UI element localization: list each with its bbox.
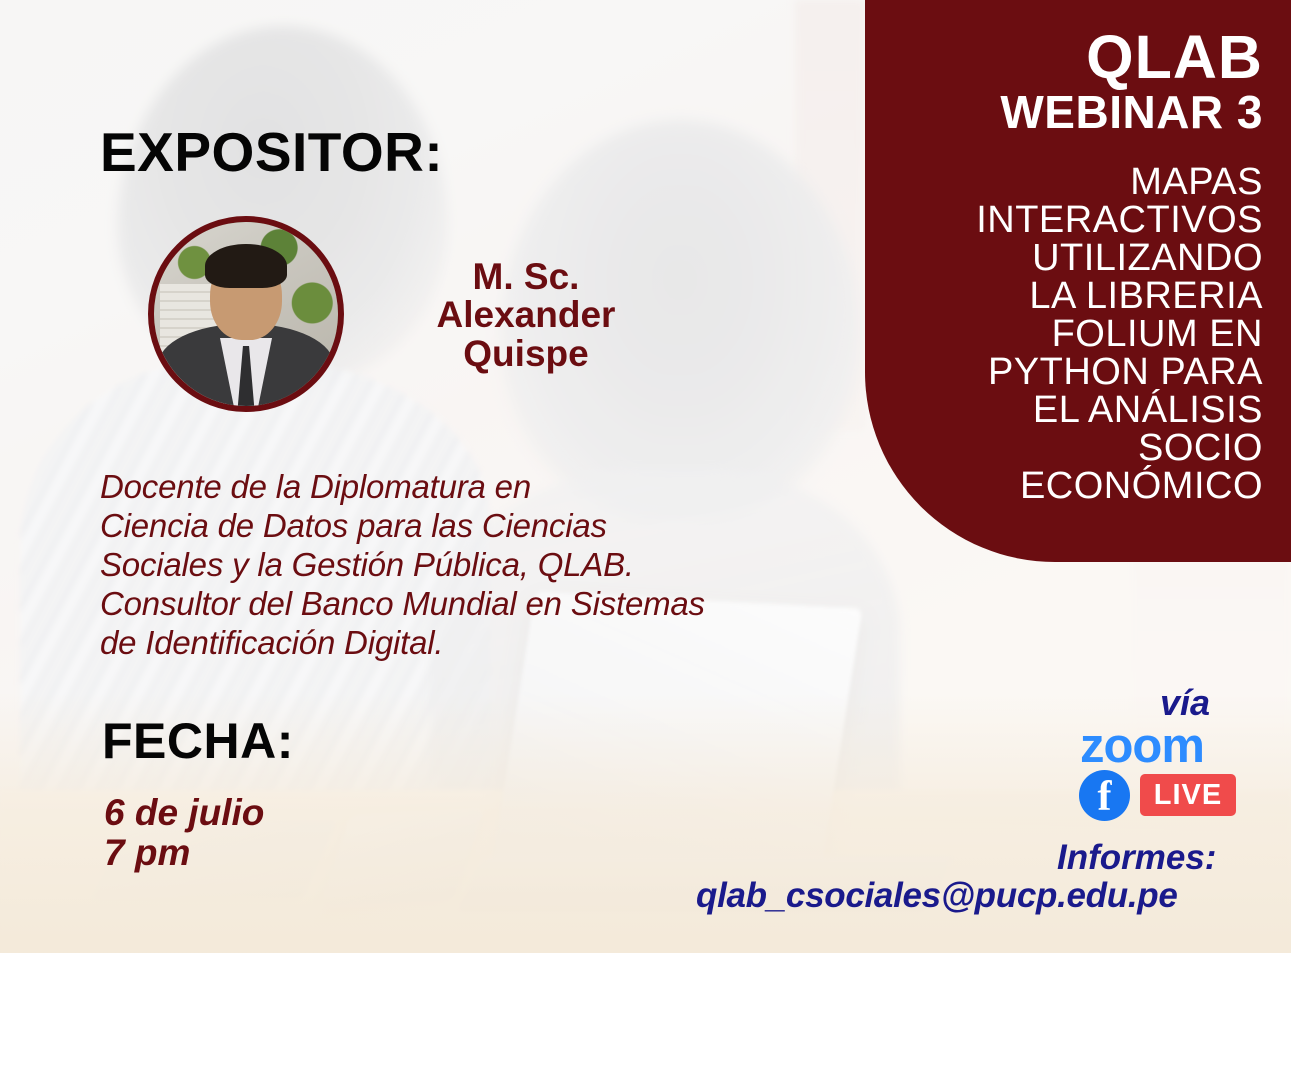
- contact-email[interactable]: qlab_csociales@pucp.edu.pe: [696, 876, 1177, 916]
- live-badge: LIVE: [1140, 774, 1236, 816]
- live-badge-label: LIVE: [1140, 779, 1236, 812]
- speaker-avatar: [148, 216, 344, 412]
- date-label: FECHA:: [102, 712, 294, 770]
- webinar-number: WEBINAR 3: [895, 89, 1263, 135]
- webinar-poster: QLAB WEBINAR 3 MAPAS INTERACTIVOS UTILIZ…: [0, 0, 1291, 1080]
- zoom-logo: zoom: [1080, 718, 1204, 774]
- background-phone: [320, 809, 485, 908]
- speaker-bio: Docente de la Diplomatura en Ciencia de …: [100, 468, 980, 663]
- speaker-label: EXPOSITOR:: [100, 120, 443, 184]
- bottom-white-band: [0, 953, 1291, 1080]
- avatar-hair: [205, 244, 287, 288]
- facebook-glyph: f: [1079, 773, 1130, 821]
- speaker-name: M. Sc. Alexander Quispe: [390, 258, 662, 373]
- date-value: 6 de julio 7 pm: [104, 793, 264, 873]
- contact-label: Informes:: [1057, 838, 1216, 878]
- facebook-icon[interactable]: f: [1079, 770, 1130, 821]
- brand-name: QLAB: [895, 28, 1263, 87]
- talk-title: MAPAS INTERACTIVOS UTILIZANDO LA LIBRERI…: [895, 163, 1263, 505]
